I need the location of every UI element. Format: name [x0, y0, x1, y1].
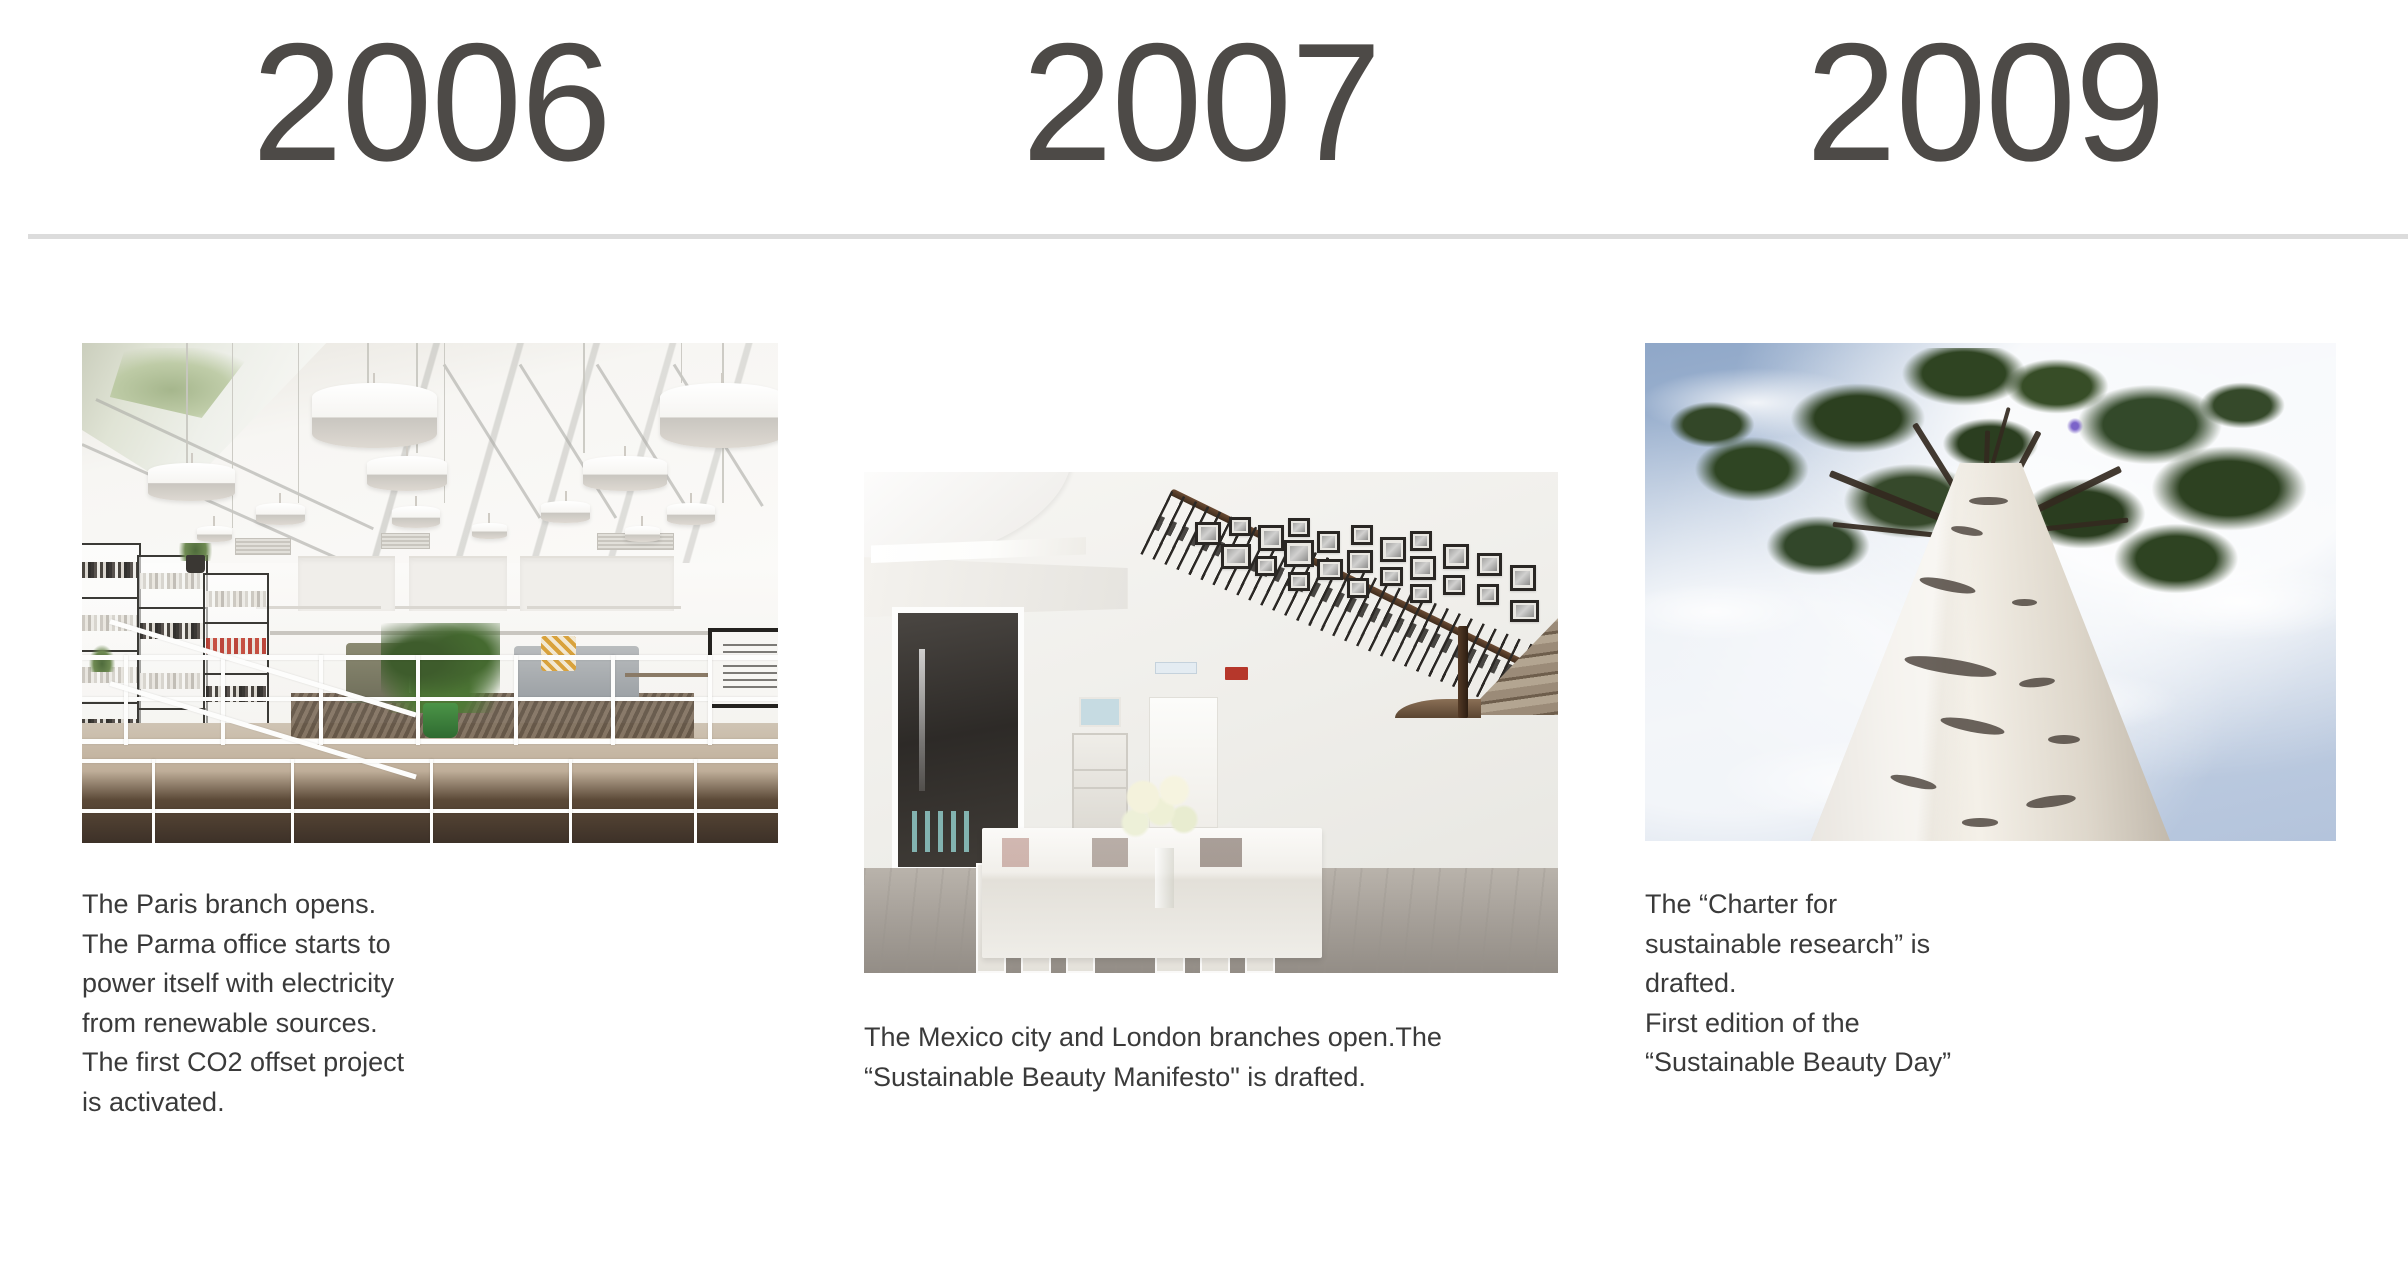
wall-photo-frame	[1347, 550, 1373, 574]
timeline-image-2009	[1645, 343, 2336, 841]
wall-photo-frame	[1347, 578, 1369, 598]
wall-photo-frame	[1410, 556, 1436, 580]
timeline-entry-2009: The “Charter for sustainable research” i…	[1645, 343, 2345, 1083]
timeline-caption-2009: The “Charter for sustainable research” i…	[1645, 885, 2045, 1083]
lamp-cord	[298, 343, 300, 503]
pendant-lamp	[625, 526, 660, 542]
mezzanine-railing	[82, 563, 778, 843]
lamp-cord	[186, 343, 188, 463]
flower-vase	[1155, 848, 1173, 908]
flower-bouquet	[1114, 773, 1211, 853]
photo-gallery-wall	[1188, 515, 1558, 672]
wall-photo-frame	[1510, 600, 1540, 622]
timeline-image-2007	[864, 472, 1558, 973]
pendant-lamp	[256, 503, 305, 525]
wall-photo-frame	[1380, 567, 1402, 586]
wall-photo-frame	[1443, 575, 1465, 595]
timeline-divider	[28, 234, 2408, 239]
wall-photo-frame	[1510, 565, 1536, 590]
wall-photo-frame	[1443, 544, 1469, 569]
timeline-year-2007: 2007	[1022, 18, 1381, 186]
wall-photo-frame	[1351, 525, 1373, 545]
wall-photo-frame	[1410, 531, 1432, 551]
wall-photo-frame	[1380, 537, 1406, 562]
timeline-caption-2007: The Mexico city and London branches open…	[864, 1018, 1504, 1097]
wall-photo-frame	[1221, 544, 1251, 569]
pendant-lamp	[667, 503, 716, 525]
pendant-lamp	[660, 383, 778, 448]
timeline-year-2006: 2006	[252, 18, 611, 186]
bark-marking	[1940, 714, 2006, 738]
pendant-lamp	[367, 456, 447, 491]
pendant-lamp	[197, 526, 232, 542]
lamp-cord	[232, 343, 234, 528]
wall-photo-frame	[1229, 517, 1251, 536]
ceiling-vent	[381, 533, 430, 549]
pendant-lamp	[583, 456, 667, 491]
wall-photo-frame	[1288, 518, 1310, 537]
bark-marking	[1889, 772, 1937, 792]
wall-photo-frame	[1477, 584, 1499, 604]
timeline-caption-2006: The Paris branch opens. The Parma office…	[82, 885, 512, 1122]
bark-marking	[2026, 792, 2077, 810]
pendant-lamp	[392, 506, 441, 528]
framed-picture	[1079, 697, 1121, 727]
hanging-teal-items	[912, 811, 972, 852]
lamp-cord	[367, 343, 369, 383]
bark-marking	[1962, 818, 1998, 826]
lamp-cord	[583, 343, 585, 453]
timeline-image-2006	[82, 343, 778, 843]
wall-photo-frame	[1288, 572, 1310, 591]
timeline-year-2009: 2009	[1806, 18, 2165, 186]
wall-photo-frame	[1477, 553, 1503, 577]
bark-marking	[1951, 524, 1984, 537]
timeline-entry-2006: The Paris branch opens. The Parma office…	[82, 343, 782, 1122]
wall-photo-frame	[1284, 540, 1314, 567]
lens-flare	[2067, 418, 2083, 434]
pendant-lamp	[312, 383, 437, 448]
wall-photo-frame	[1255, 556, 1277, 576]
lamp-cord	[681, 343, 683, 383]
wall-photo-frame	[1410, 584, 1432, 603]
bark-marking	[2048, 735, 2080, 744]
wall-photo-frame	[1317, 531, 1339, 553]
bark-marking	[1918, 574, 1977, 597]
newel-post	[1458, 626, 1467, 718]
bark-marking	[1904, 652, 1999, 682]
wall-photo-frame	[1258, 525, 1284, 552]
wall-photo-frame	[1195, 522, 1221, 546]
wall-photo-frame	[1317, 559, 1343, 579]
staircase-assembly	[1128, 472, 1558, 743]
timeline-entry-2007: The Mexico city and London branches open…	[864, 472, 1564, 1097]
pendant-lamp	[148, 463, 235, 501]
bark-marking	[2019, 676, 2056, 689]
pendant-lamp	[541, 501, 590, 523]
bark-marking	[1969, 497, 2009, 505]
bark-marking	[2012, 599, 2037, 606]
pendant-lamp	[472, 523, 507, 539]
